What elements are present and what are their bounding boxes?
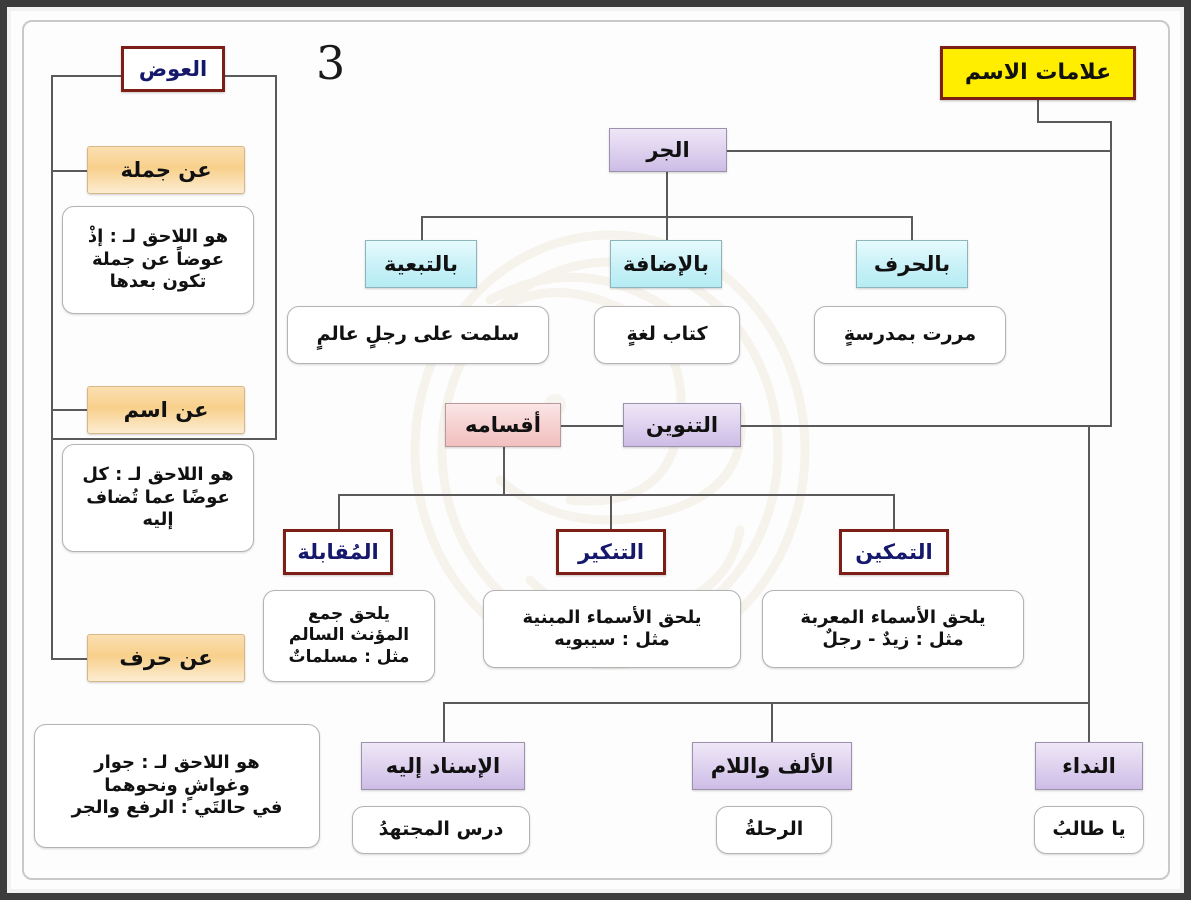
example-bil-harf: مررت بمدرسةٍ: [814, 306, 1006, 364]
connector-aqsam-to-tamkeen: [893, 494, 895, 529]
connector-jar-to-idafa: [666, 216, 668, 240]
connector-jar-to-harf: [911, 216, 913, 240]
node-alif-wal-lam[interactable]: الألف واللام: [692, 742, 852, 790]
connector-bottom-to-isnad: [443, 702, 445, 742]
connector-tanween-feed: [740, 425, 1112, 427]
connector-aqsam-to-muqabala: [338, 494, 340, 529]
page-number: 3: [316, 36, 345, 90]
note-al-tankeer: يلحق الأسماء المبنية مثل : سيبويه: [483, 590, 741, 668]
connector-iwad-bottom-bar: [51, 438, 277, 440]
connector-right-spine-lower: [1088, 425, 1090, 702]
diagram-page: 3 علامات الاسم الجر بالتبعية بالإضافة با…: [0, 0, 1191, 900]
note-al-muqabala: يلحق جمع المؤنث السالم مثل : مسلماتٌ: [263, 590, 435, 682]
header-alamat-al-ism[interactable]: علامات الاسم: [940, 46, 1136, 100]
note-an-ism: هو اللاحق لـ : كل عوضًا عما تُضاف إليه: [62, 444, 254, 552]
node-al-tanween[interactable]: التنوين: [623, 403, 741, 447]
connector-iwad-to-harf: [51, 658, 91, 660]
node-an-ism[interactable]: عن اسم: [87, 386, 245, 434]
node-an-jumla[interactable]: عن جملة: [87, 146, 245, 194]
connector-bottom-bar: [443, 702, 1090, 704]
node-aqsamuh[interactable]: أقسامه: [445, 403, 561, 447]
node-al-isnad-ilayh[interactable]: الإسناد إليه: [361, 742, 525, 790]
note-an-harf: هو اللاحق لـ : جوار وغواشٍ ونحوهما في حا…: [34, 724, 320, 848]
connector-bottom-to-nida: [1088, 702, 1090, 742]
node-bil-harf[interactable]: بالحرف: [856, 240, 968, 288]
example-alif-wal-lam: الرحلةُ: [716, 806, 832, 854]
connector-iwad-to-ism: [51, 409, 91, 411]
example-bil-tabaiyya: سلمت على رجلٍ عالمٍ: [287, 306, 549, 364]
node-al-muqabala[interactable]: المُقابلة: [283, 529, 393, 575]
example-al-nida: يا طالبُ: [1034, 806, 1144, 854]
connector-header-stem: [1037, 100, 1039, 122]
node-al-tamkeen[interactable]: التمكين: [839, 529, 949, 575]
connector-tanween-to-aqsam: [561, 425, 623, 427]
connector-jar-stem: [666, 172, 668, 217]
connector-iwad-right-top: [222, 75, 277, 77]
example-al-isnad-ilayh: درس المجتهدُ: [352, 806, 530, 854]
connector-iwad-right-spine: [275, 75, 277, 440]
node-bil-idafa[interactable]: بالإضافة: [610, 240, 722, 288]
connector-jar-feed: [727, 150, 1112, 152]
connector-iwad-left-spine: [51, 75, 53, 660]
connector-iwad-to-jumla: [51, 170, 91, 172]
connector-aqsam-stem: [503, 447, 505, 495]
example-bil-idafa: كتاب لغةٍ: [594, 306, 740, 364]
node-al-tankeer[interactable]: التنكير: [556, 529, 666, 575]
node-bil-tabaiyya[interactable]: بالتبعية: [365, 240, 477, 288]
note-an-jumla: هو اللاحق لـ : إذْ عوضاً عن جملة تكون بع…: [62, 206, 254, 314]
note-al-tamkeen: يلحق الأسماء المعربة مثل : زيدٌ - رجلٌ: [762, 590, 1024, 668]
node-al-nida[interactable]: النداء: [1035, 742, 1143, 790]
connector-aqsam-to-tankeer: [610, 494, 612, 529]
connector-header-bar: [1037, 121, 1112, 123]
connector-aqsam-bar: [338, 494, 895, 496]
connector-bottom-to-alif-lam: [771, 702, 773, 742]
node-an-harf[interactable]: عن حرف: [87, 634, 245, 682]
connector-right-spine: [1110, 121, 1112, 426]
connector-jar-to-tabaiyya: [421, 216, 423, 240]
node-al-jar[interactable]: الجر: [609, 128, 727, 172]
connector-iwad-left-top: [51, 75, 123, 77]
node-al-iwad[interactable]: العوض: [121, 46, 225, 92]
